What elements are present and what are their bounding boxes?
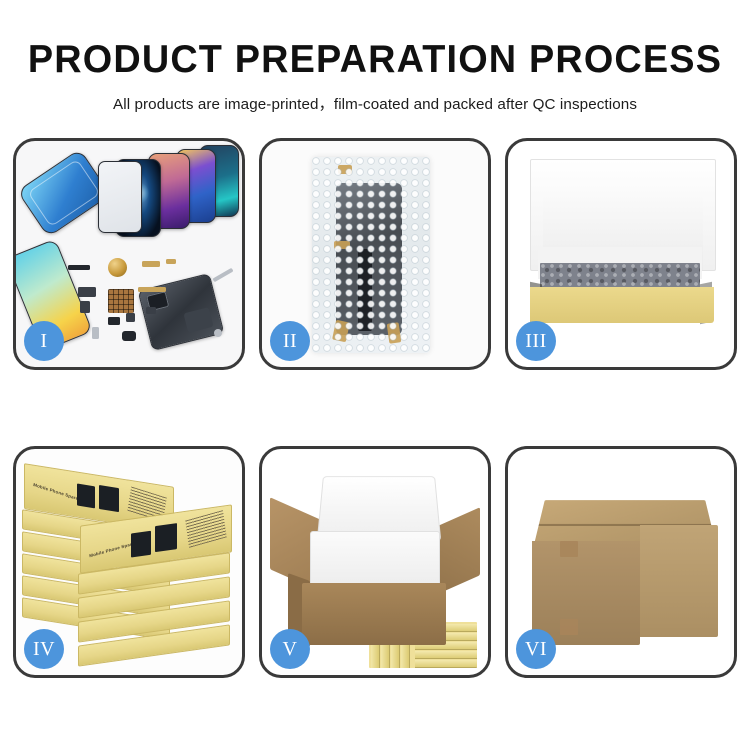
step-panel-5: V (259, 446, 491, 678)
part-graphic (214, 329, 222, 337)
part-graphic (108, 317, 120, 325)
part-graphic (68, 265, 90, 270)
box-label-lines (185, 510, 227, 548)
box-front-graphic (530, 287, 714, 323)
page-title: PRODUCT PREPARATION PROCESS (11, 40, 739, 79)
carton-side-graphic (640, 525, 718, 637)
box-label-image (155, 523, 177, 552)
step-panel-1: I (13, 138, 245, 370)
header: PRODUCT PREPARATION PROCESS All products… (0, 0, 750, 114)
step-badge-6: VI (516, 629, 556, 669)
part-graphic (146, 307, 156, 314)
carton-front-graphic (532, 541, 640, 645)
step-badge-3: III (516, 321, 556, 361)
page-subtitle: All products are image-printed，film-coat… (0, 92, 750, 114)
screen-glass-graphic (98, 161, 142, 233)
step-panel-2: II (259, 138, 491, 370)
chip-board-graphic (108, 289, 134, 313)
step-badge-4: IV (24, 629, 64, 669)
yellow-box-graphic (415, 660, 477, 668)
yellow-box-graphic (415, 651, 477, 659)
box-label-image (77, 484, 95, 509)
part-graphic (80, 301, 90, 313)
part-graphic (92, 327, 99, 339)
part-graphic (138, 287, 166, 292)
step-badge-2: II (270, 321, 310, 361)
product-preparation-infographic: PRODUCT PREPARATION PROCESS All products… (0, 0, 750, 750)
carton-tape-graphic (560, 619, 578, 635)
bubble-texture (312, 157, 430, 353)
box-label-image (99, 485, 119, 512)
step-badge-5: V (270, 629, 310, 669)
carton-body-graphic (302, 583, 446, 645)
step-panel-6: VI (505, 446, 737, 678)
part-graphic (126, 313, 135, 322)
part-graphic (142, 261, 160, 267)
carton-tape-graphic (560, 541, 578, 557)
steps-grid: I II (13, 138, 737, 678)
step-panel-4: Mobile Phone Spare Parts Mobile Phone Sp… (13, 446, 245, 678)
step-badge-1: I (24, 321, 64, 361)
part-graphic (166, 259, 176, 264)
part-graphic (212, 268, 233, 282)
bubble-wrap-bag-graphic (312, 157, 430, 353)
box-label-image (131, 531, 151, 558)
step-panel-3: III (505, 138, 737, 370)
part-graphic (122, 331, 136, 341)
adhesive-frame-graphic (17, 149, 111, 238)
speaker-part-graphic (108, 258, 127, 277)
part-graphic (78, 287, 96, 297)
